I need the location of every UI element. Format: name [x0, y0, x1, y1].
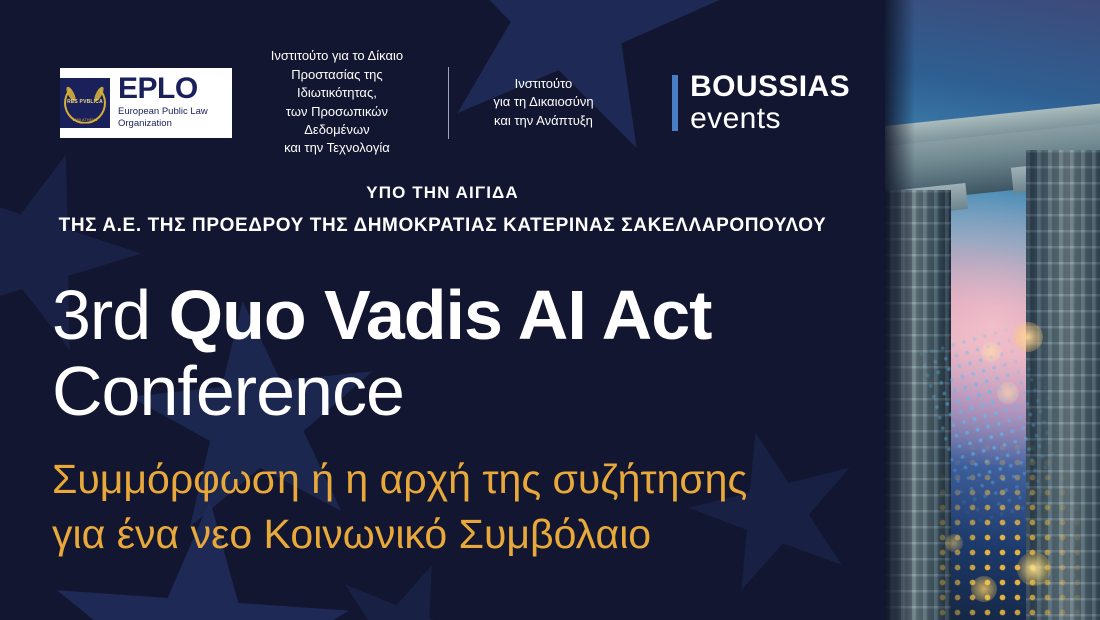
title-ordinal: 3rd	[52, 276, 150, 354]
conference-banner: RES PVBLICA 1995 ATHENS EPLO European Pu…	[0, 0, 1100, 620]
organizer-logo-strip: RES PVBLICA 1995 ATHENS EPLO European Pu…	[60, 60, 850, 145]
event-subtitle: Συμμόρφωση ή η αρχή της συζήτησης για έν…	[52, 452, 872, 561]
boussias-name: BOUSSIAS	[690, 71, 850, 103]
content-column: RES PVBLICA 1995 ATHENS EPLO European Pu…	[0, 0, 885, 620]
institute-justice-development-label: Ινστιτούτο για τη Δικαιοσύνη και την Ανά…	[485, 75, 602, 130]
auspices-heading: ΥΠΟ ΤΗΝ ΑΙΓΙΔΑ	[0, 182, 885, 204]
institute-privacy-law-label: Ινστιτούτο για το Δίκαιο Προστασίας της …	[262, 47, 412, 158]
boussias-accent-bar	[672, 75, 678, 131]
auspices-patron: ΤΗΣ Α.Ε. ΤΗΣ ΠΡΟΕΔΡΟΥ ΤΗΣ ΔΗΜΟΚΡΑΤΙΑΣ ΚΑ…	[0, 214, 885, 239]
eplo-acronym: EPLO	[118, 75, 232, 104]
auspices-block: ΥΠΟ ΤΗΝ ΑΙΓΙΔΑ ΤΗΣ Α.Ε. ΤΗΣ ΠΡΟΕΔΡΟΥ ΤΗΣ…	[0, 182, 885, 239]
eplo-emblem-motto: RES PVBLICA	[67, 100, 103, 106]
boussias-wordmark: BOUSSIAS events	[690, 71, 850, 134]
photo-edge-shadow	[885, 0, 1100, 620]
title-emphasis: Quo Vadis AI Act	[169, 276, 712, 354]
eplo-logo: RES PVBLICA 1995 ATHENS EPLO European Pu…	[60, 68, 232, 138]
boussias-events-label: events	[690, 103, 850, 135]
eplo-full-name: European Public Law Organization	[118, 106, 232, 130]
title-tail: Conference	[52, 352, 404, 430]
event-title: 3rd Quo Vadis AI Act Conference	[52, 278, 872, 429]
temple-photo-panel	[885, 0, 1100, 620]
logo-divider	[448, 67, 449, 139]
boussias-events-logo: BOUSSIAS events	[672, 71, 850, 134]
eplo-wordmark: EPLO European Public Law Organization	[118, 75, 232, 130]
eplo-emblem-icon: RES PVBLICA 1995 ATHENS	[60, 78, 110, 128]
eplo-emblem-footer: 1995 ATHENS	[60, 119, 110, 123]
